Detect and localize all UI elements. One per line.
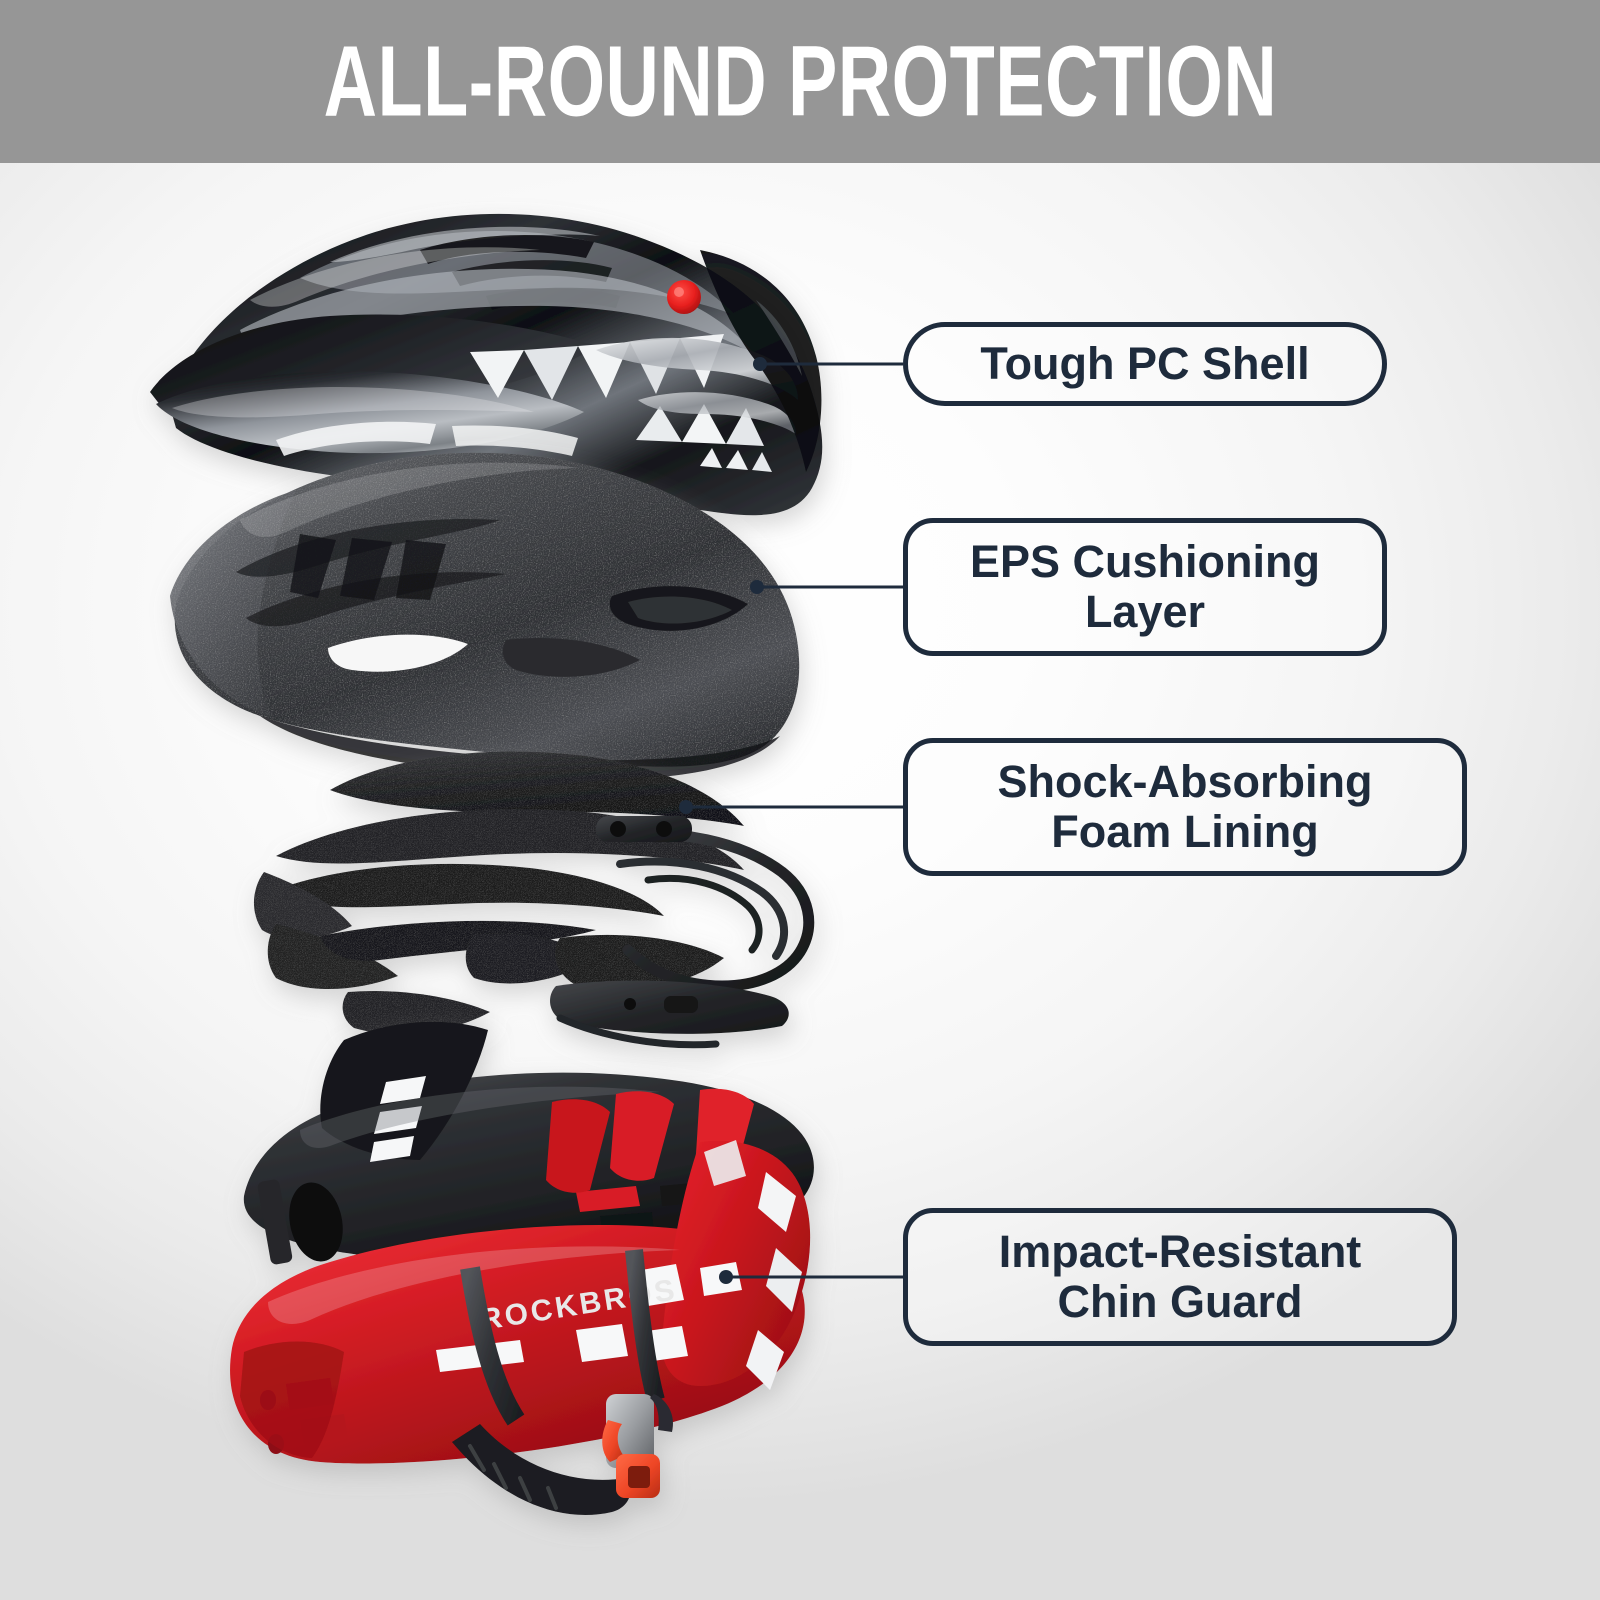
callout-label-4: Impact-Resistant Chin Guard <box>999 1227 1362 1328</box>
callout-tough-pc-shell[interactable]: Tough PC Shell <box>903 322 1387 406</box>
callout-label-4-line2: Chin Guard <box>1058 1276 1303 1327</box>
callout-label-2-line1: EPS Cushioning <box>970 536 1320 587</box>
callout-eps-cushioning-layer[interactable]: EPS Cushioning Layer <box>903 518 1387 656</box>
callout-label-2-line2: Layer <box>1085 586 1205 637</box>
callout-label-4-line1: Impact-Resistant <box>999 1226 1362 1277</box>
callout-label-3-line2: Foam Lining <box>1051 806 1318 857</box>
infographic-page: ROCKBROS <box>0 0 1600 1600</box>
callout-label-1: Tough PC Shell <box>980 339 1309 389</box>
layer-foam-lining <box>254 751 809 1044</box>
callout-impact-resistant-chin-guard[interactable]: Impact-Resistant Chin Guard <box>903 1208 1457 1346</box>
shell-eye-accent <box>667 280 701 314</box>
callout-label-3-line1: Shock-Absorbing <box>997 756 1372 807</box>
callout-shock-absorbing-foam-lining[interactable]: Shock-Absorbing Foam Lining <box>903 738 1467 876</box>
callout-label-3: Shock-Absorbing Foam Lining <box>997 757 1372 858</box>
layer-chin-guard: ROCKBROS <box>230 1022 814 1515</box>
callout-label-2: EPS Cushioning Layer <box>970 537 1320 638</box>
